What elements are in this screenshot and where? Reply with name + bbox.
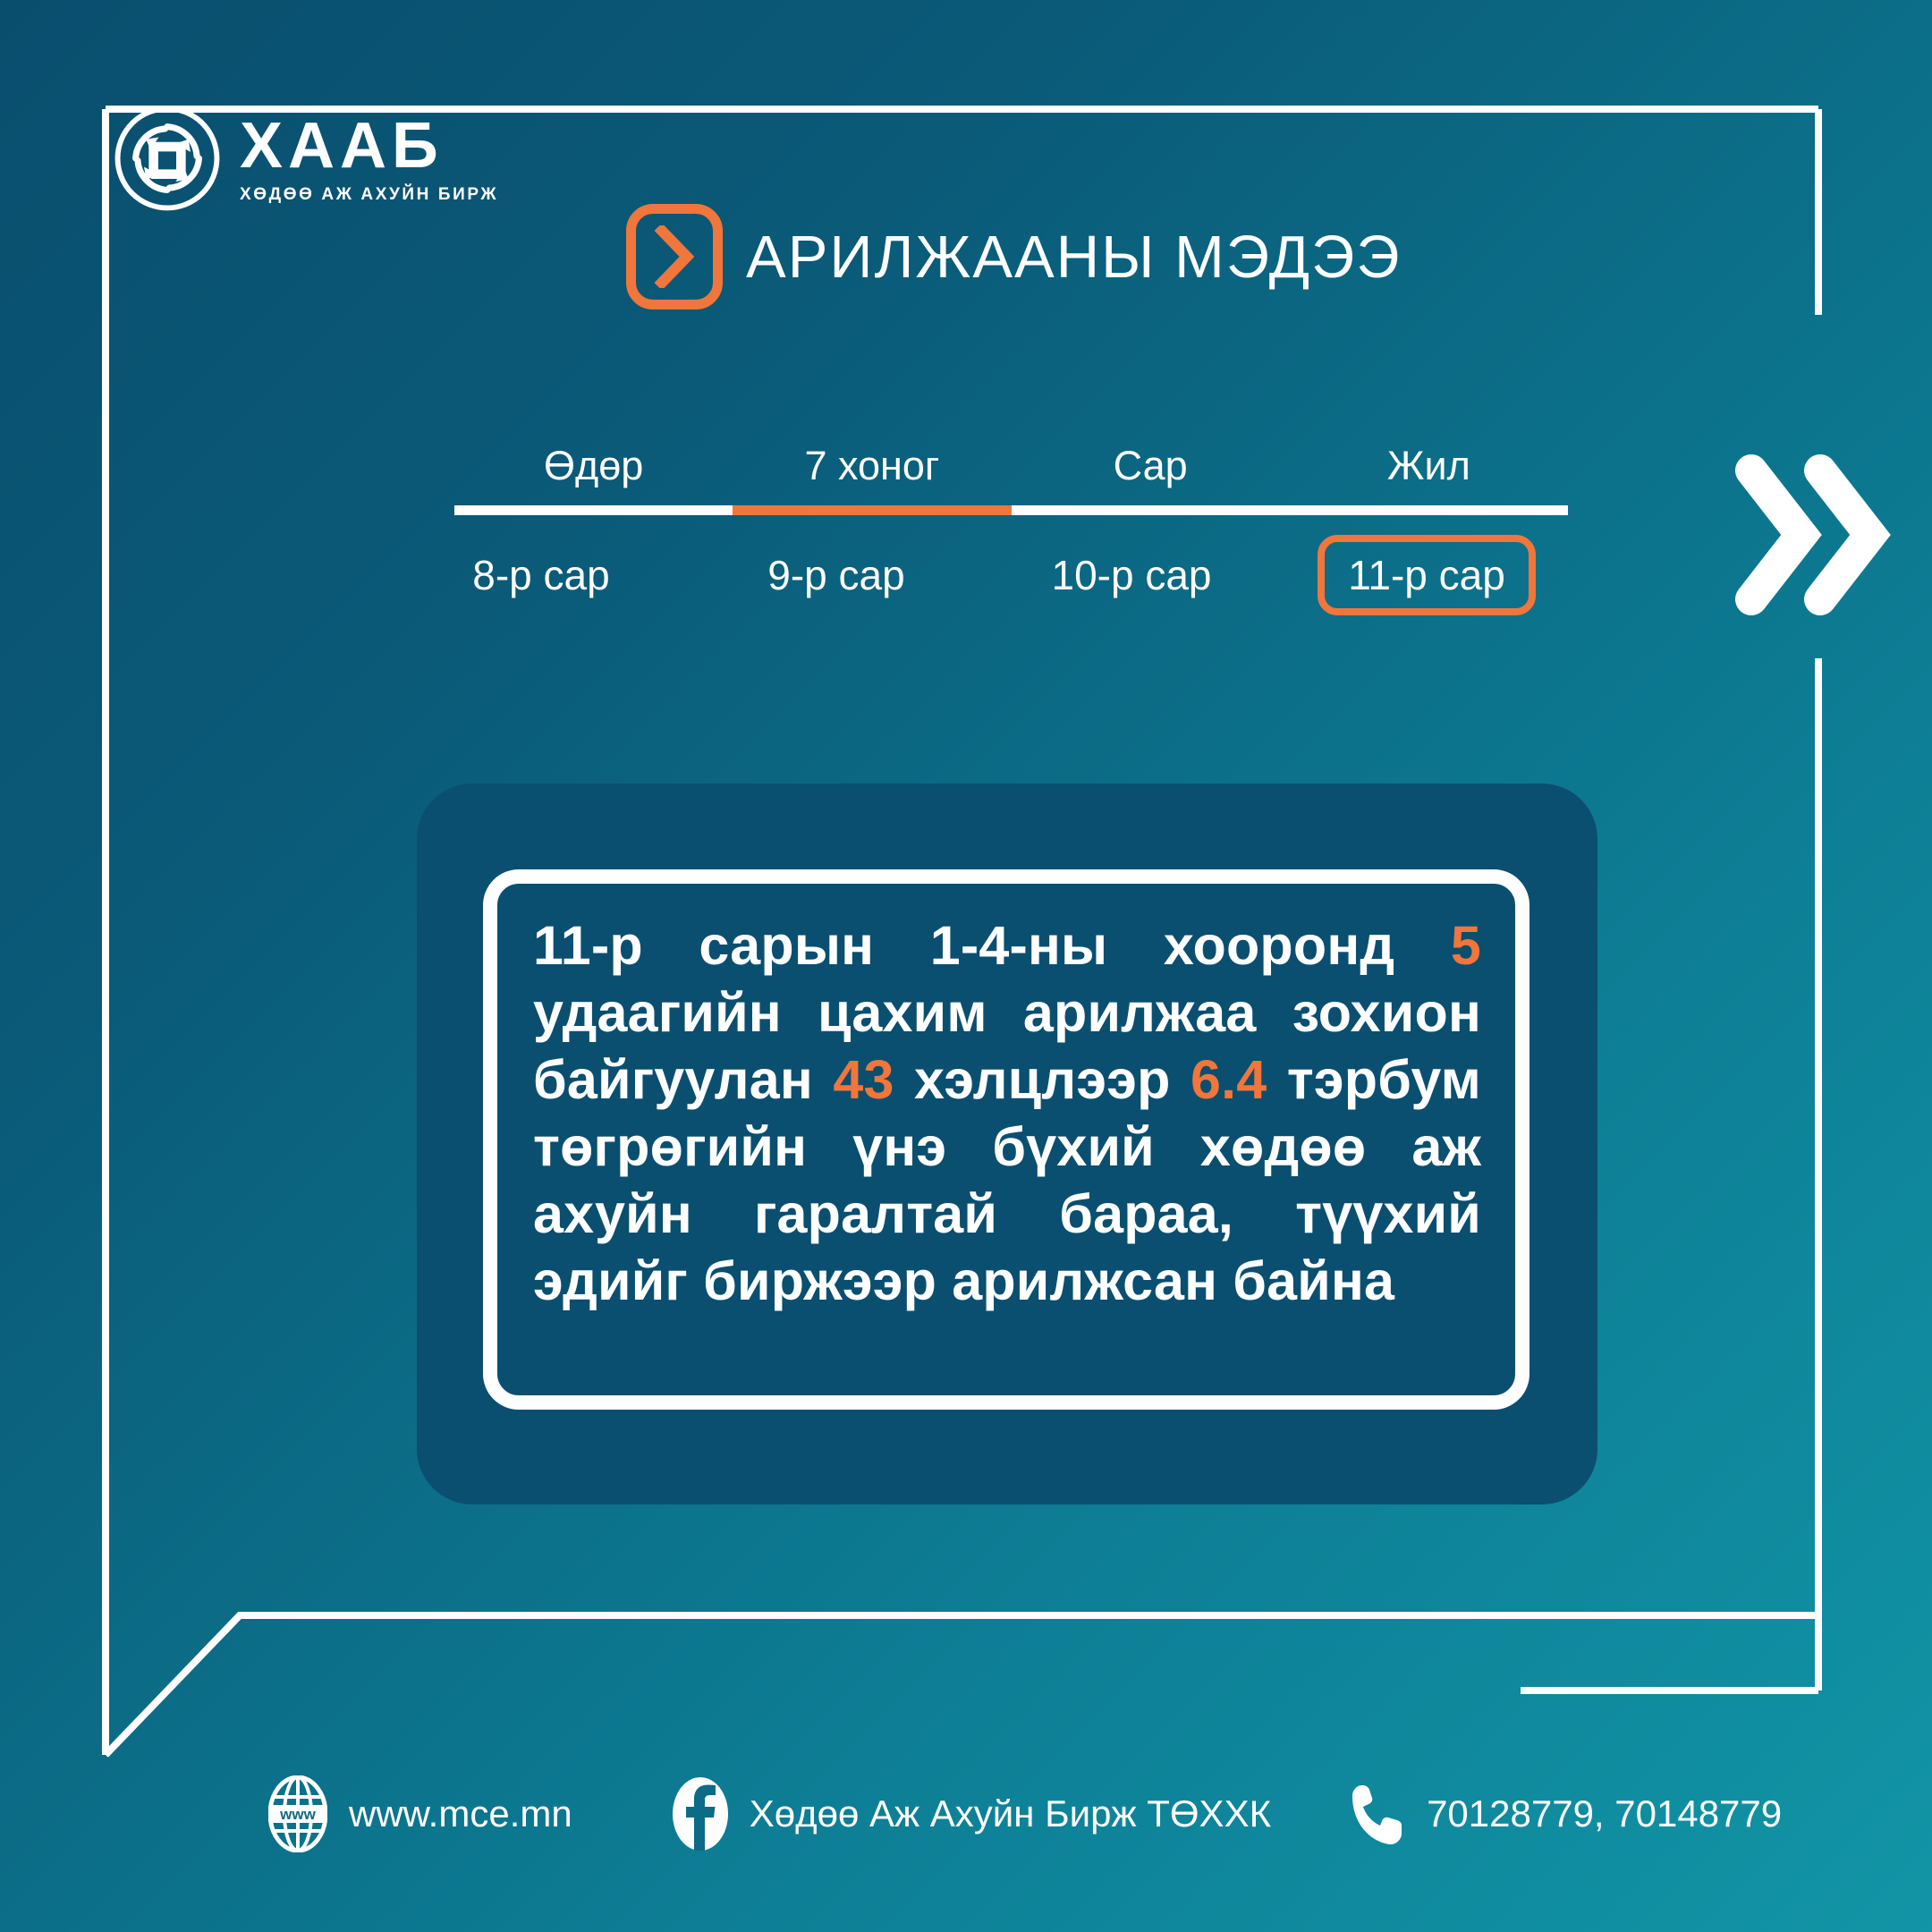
chevron-right-icon	[654, 225, 695, 288]
tab-segment-sar[interactable]	[1012, 505, 1290, 515]
facebook-icon	[673, 1775, 728, 1852]
footer-website[interactable]: www www.mce.mn	[268, 1775, 572, 1852]
page-title-row: АРИЛЖААНЫ МЭДЭЭ	[626, 204, 1402, 309]
month-chip-11[interactable]: 11-р сар	[1318, 535, 1536, 615]
footer-phone[interactable]: 70128779, 70148779	[1350, 1782, 1782, 1846]
hab-knot-logo-icon	[114, 106, 220, 211]
tab-segment-jil[interactable]	[1290, 505, 1568, 515]
tab-segment-7-honog[interactable]	[733, 505, 1011, 515]
brand-logo: ХААБ ХӨДӨӨ АЖ АХУЙН БИРЖ	[114, 106, 498, 211]
brand-wordmark: ХААБ ХӨДӨӨ АЖ АХУЙН БИРЖ	[240, 114, 498, 203]
svg-text:www: www	[279, 1806, 316, 1823]
month-cell-11: 11-р сар	[1279, 535, 1574, 615]
month-cell-8: 8-р сар	[394, 535, 689, 615]
double-chevron-right-icon	[1728, 445, 1894, 624]
footer-phone-label[interactable]: 70128779, 70148779	[1427, 1792, 1782, 1835]
month-cell-9: 9-р сар	[689, 535, 984, 615]
summary-highlight-value: 43	[833, 1049, 894, 1110]
tab-segment-odor[interactable]	[454, 505, 733, 515]
globe-www-icon: www	[268, 1775, 327, 1852]
footer-website-label[interactable]: www.mce.mn	[349, 1792, 572, 1835]
tab-jil[interactable]: Жил	[1290, 443, 1568, 489]
summary-text-run: 11-р сарын 1-4-ны хооронд	[533, 915, 1451, 976]
tab-odor[interactable]: Өдөр	[454, 443, 733, 489]
month-chip-10[interactable]: 10-р сар	[1021, 535, 1241, 615]
summary-highlight-value: 5	[1451, 915, 1481, 976]
tab-indicator-bar	[454, 505, 1568, 515]
summary-text-run: хэлцлээр	[894, 1049, 1191, 1110]
period-tabs[interactable]: Өдөр 7 хоног Сар Жил	[454, 443, 1568, 515]
month-selector[interactable]: 8-р сар 9-р сар 10-р сар 11-р сар	[394, 535, 1574, 615]
month-chip-8[interactable]: 8-р сар	[442, 535, 640, 615]
brand-tagline: ХӨДӨӨ АЖ АХУЙН БИРЖ	[240, 186, 498, 203]
tab-label-row: Өдөр 7 хоног Сар Жил	[454, 443, 1568, 489]
page-title: АРИЛЖААНЫ МЭДЭЭ	[746, 223, 1402, 292]
title-badge	[626, 204, 723, 309]
footer-contact-bar: www www.mce.mn Хөдөө Аж Ахуйн Бирж ТӨХХК…	[268, 1775, 1782, 1852]
footer-facebook-label[interactable]: Хөдөө Аж Ахуйн Бирж ТӨХХК	[750, 1792, 1271, 1835]
phone-icon	[1350, 1782, 1405, 1846]
summary-card-text: 11-р сарын 1-4-ны хооронд 5 удаагийн цах…	[533, 912, 1481, 1315]
month-chip-9[interactable]: 9-р сар	[737, 535, 935, 615]
summary-highlight-value: 6.4	[1191, 1049, 1267, 1110]
poster-canvas: ХААБ ХӨДӨӨ АЖ АХУЙН БИРЖ АРИЛЖААНЫ МЭДЭЭ…	[0, 0, 1932, 1932]
brand-name: ХААБ	[240, 114, 444, 178]
tab-sar[interactable]: Сар	[1012, 443, 1290, 489]
month-cell-10: 10-р сар	[984, 535, 1279, 615]
footer-facebook[interactable]: Хөдөө Аж Ахуйн Бирж ТӨХХК	[673, 1775, 1271, 1852]
tab-7-honog[interactable]: 7 хоног	[733, 443, 1011, 489]
